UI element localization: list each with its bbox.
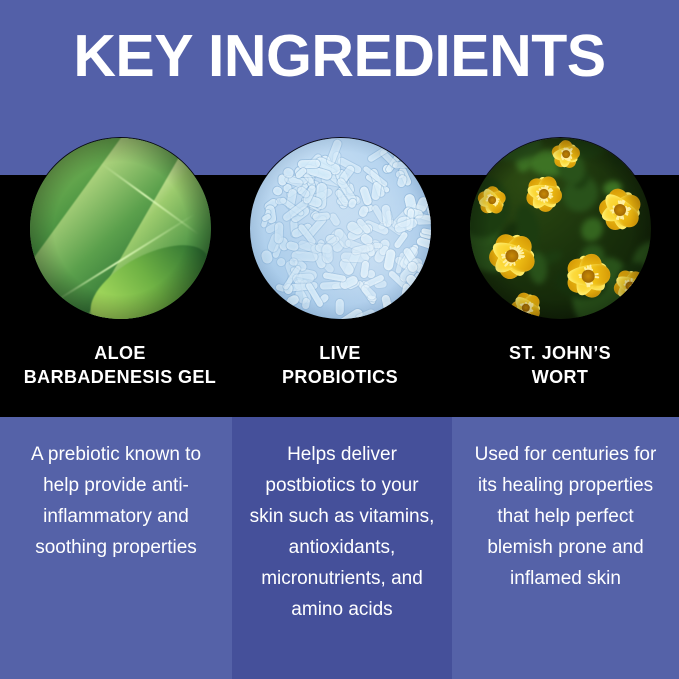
description-column-st-johns-wort: Used for centuries for its healing prope…	[452, 417, 679, 679]
ingredient-name-wort-line1: ST. JOHN’S	[509, 343, 611, 363]
ingredient-name-wort-line2: WORT	[532, 367, 589, 387]
page-title: KEY INGREDIENTS	[0, 25, 679, 87]
ingredient-name-probiotics-line2: PROBIOTICS	[282, 367, 398, 387]
description-column-aloe: A prebiotic known to help provide anti-i…	[0, 417, 232, 679]
aloe-leaves-icon	[30, 138, 211, 319]
key-ingredients-infographic: KEY INGREDIENTS	[0, 0, 679, 679]
ingredient-image-probiotics	[250, 138, 431, 319]
yellow-flower-icon	[470, 138, 651, 319]
ingredient-name-st-johns-wort: ST. JOHN’S WORT	[430, 341, 679, 389]
ingredient-name-aloe-line2: BARBADENESIS GEL	[24, 367, 216, 387]
description-text-probiotics: Helps deliver postbiotics to your skin s…	[246, 439, 438, 625]
description-column-probiotics: Helps deliver postbiotics to your skin s…	[232, 417, 452, 679]
description-text-aloe: A prebiotic known to help provide anti-i…	[14, 439, 218, 563]
description-row: A prebiotic known to help provide anti-i…	[0, 417, 679, 679]
ingredient-image-st-johns-wort	[470, 138, 651, 319]
bacteria-microscope-icon	[250, 138, 431, 319]
description-text-st-johns-wort: Used for centuries for its healing prope…	[466, 439, 665, 594]
ingredient-name-probiotics-line1: LIVE	[319, 343, 361, 363]
ingredient-name-aloe-line1: ALOE	[94, 343, 146, 363]
ingredient-image-aloe	[30, 138, 211, 319]
